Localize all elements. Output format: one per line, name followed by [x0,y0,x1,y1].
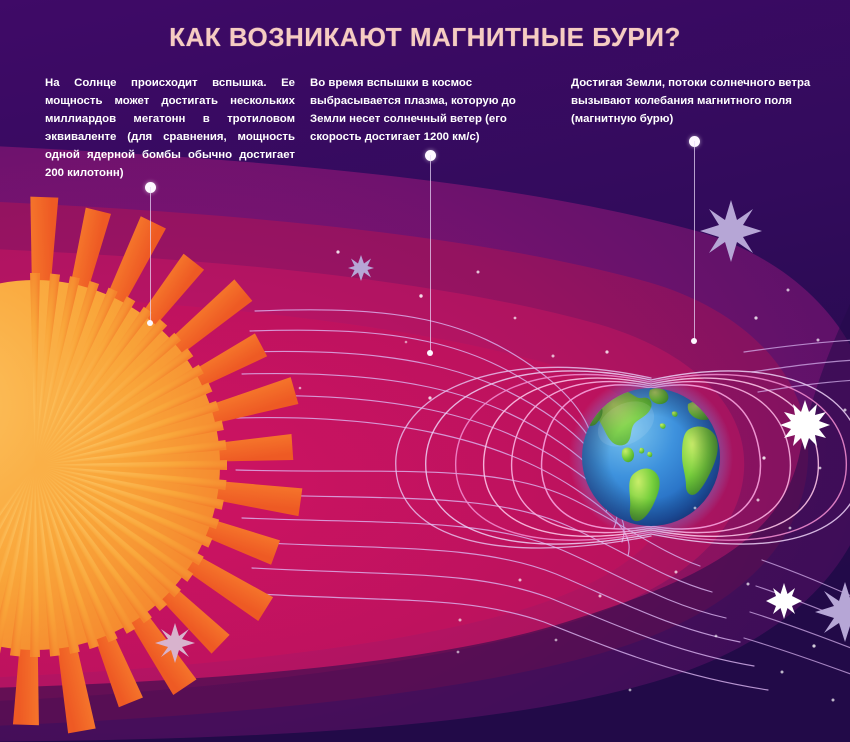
connector-sun-line [150,187,151,323]
connector-plasma-bottom-dot [427,350,433,356]
earth-globe [569,375,734,539]
connector-earth-bottom-dot [691,338,697,344]
page-title: КАК ВОЗНИКАЮТ МАГНИТНЫЕ БУРИ? [0,22,850,53]
connector-earth-line [694,141,695,341]
star-lavender-large-icon [700,200,762,262]
caption-plasma-ejection: Во время вспышки в космос выбрасывается … [310,74,553,146]
star-lavender-sun-icon [155,623,195,663]
caption-magnetic-field: Достигая Земли, потоки солнечного ветра … [571,74,821,128]
connector-plasma-line [430,155,431,353]
caption-solar-flare: На Солнце происходит вспышка. Ее мощност… [45,74,295,182]
infographic-poster: КАК ВОЗНИКАЮТ МАГНИТНЫЕ БУРИ? На Солнце … [0,0,850,742]
connector-sun-bottom-dot [147,320,153,326]
